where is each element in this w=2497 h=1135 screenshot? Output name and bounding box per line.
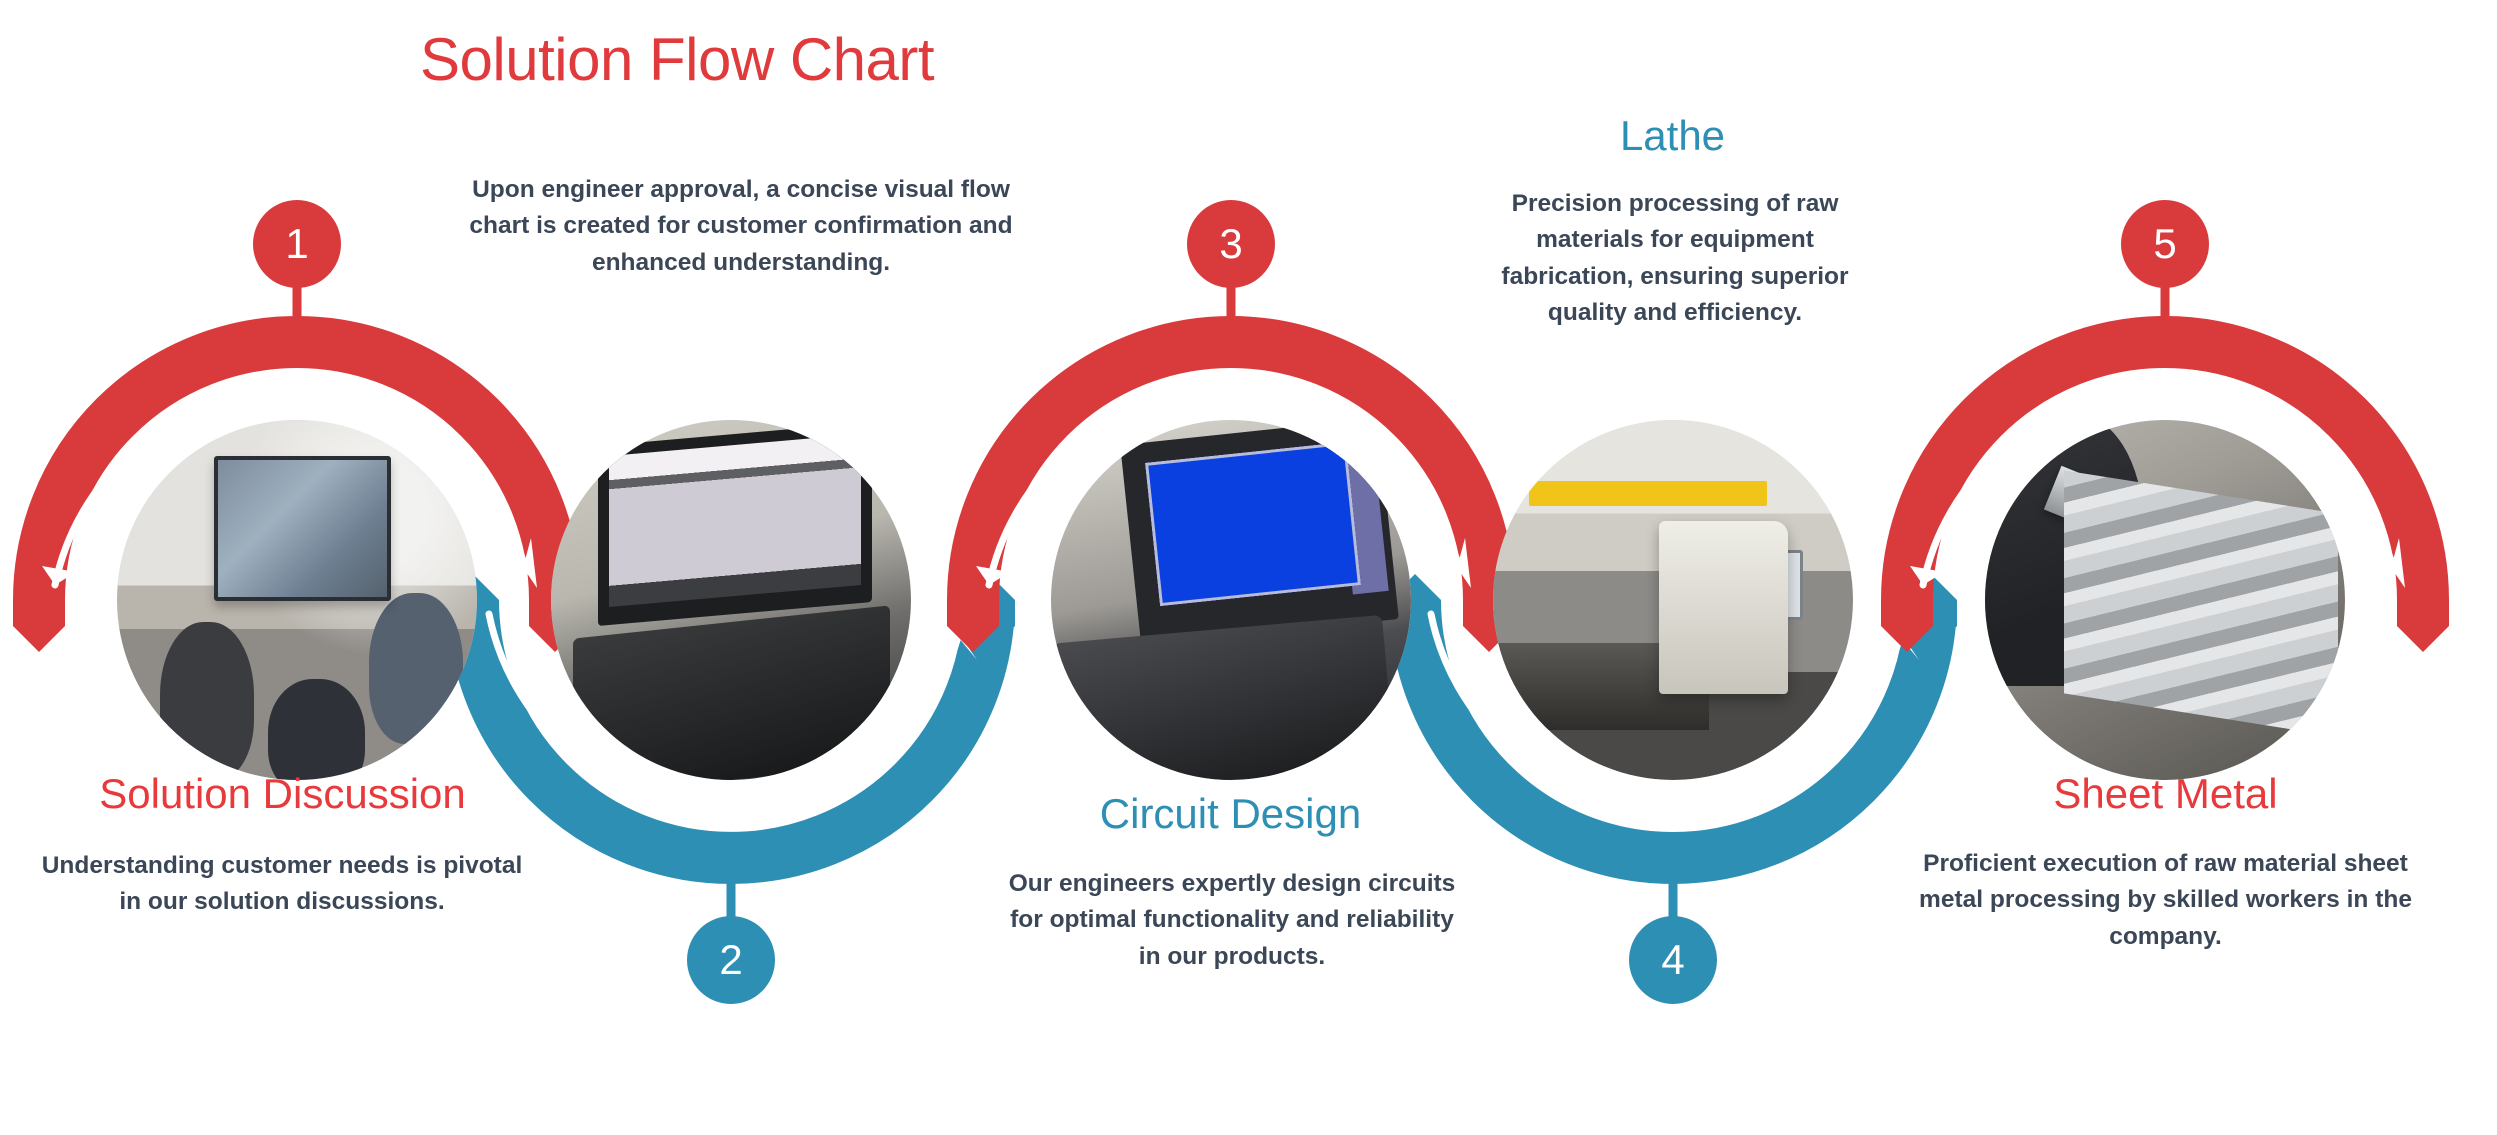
step-heading-5: Sheet Metal bbox=[1893, 770, 2438, 817]
step-heading-1: Solution Discussion bbox=[10, 770, 555, 817]
step-badge-2: 2 bbox=[687, 916, 775, 1004]
step-body-4: Precision processing of raw materials fo… bbox=[1470, 186, 1880, 331]
step-badge-5: 5 bbox=[2121, 200, 2209, 288]
step-badge-4: 4 bbox=[1629, 916, 1717, 1004]
step-photo-4 bbox=[1493, 420, 1853, 780]
step-heading-3: Circuit Design bbox=[958, 790, 1503, 837]
step-badge-3: 3 bbox=[1187, 200, 1275, 288]
step-body-3: Our engineers expertly design circuits f… bbox=[1002, 866, 1462, 975]
step-body-1: Understanding customer needs is pivotal … bbox=[32, 848, 532, 921]
page-title: Solution Flow Chart bbox=[420, 28, 1140, 91]
step-badge-1: 1 bbox=[253, 200, 341, 288]
infographic-canvas: Solution Flow Chart bbox=[0, 0, 2497, 1135]
step-photo-3 bbox=[1051, 420, 1411, 780]
step-body-5: Proficient execution of raw material she… bbox=[1908, 846, 2423, 955]
step-photo-5 bbox=[1985, 420, 2345, 780]
step-photo-1 bbox=[117, 420, 477, 780]
step-heading-4: Lathe bbox=[1400, 112, 1945, 159]
step-photo-2 bbox=[551, 420, 911, 780]
step-body-2: Upon engineer approval, a concise visual… bbox=[456, 172, 1026, 281]
